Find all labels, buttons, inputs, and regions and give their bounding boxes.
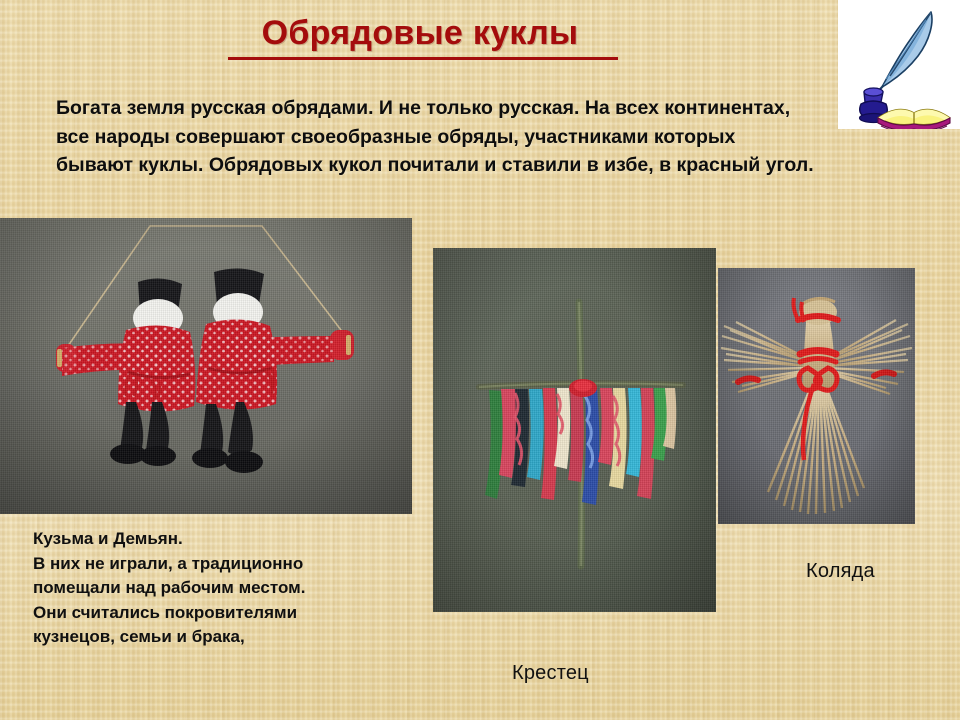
caption-line: кузнецов, семьи и брака, — [33, 625, 413, 650]
label-kolyada: Коляда — [806, 560, 875, 583]
intro-paragraph: Богата земля русская обрядами. И не толь… — [56, 94, 816, 180]
photo-kuzma-demyan — [0, 218, 412, 514]
quill-and-book-icon — [838, 0, 960, 129]
caption-line: Кузьма и Демьян. — [33, 527, 413, 552]
page-title: Обрядовые куклы — [0, 14, 840, 53]
slide-canvas: Обрядовые куклы — [0, 0, 960, 720]
caption-line: Они считались покровителями — [33, 601, 413, 626]
title-underline — [228, 57, 618, 60]
caption-line: В них не играли, а традиционно — [33, 552, 413, 577]
label-krestets: Крестец — [512, 662, 589, 685]
photo-krestets — [433, 248, 716, 612]
photo-kolyada — [718, 268, 915, 524]
caption-line: помещали над рабочим местом. — [33, 576, 413, 601]
caption-kuzma-demyan: Кузьма и Демьян. В них не играли, а трад… — [33, 527, 413, 650]
